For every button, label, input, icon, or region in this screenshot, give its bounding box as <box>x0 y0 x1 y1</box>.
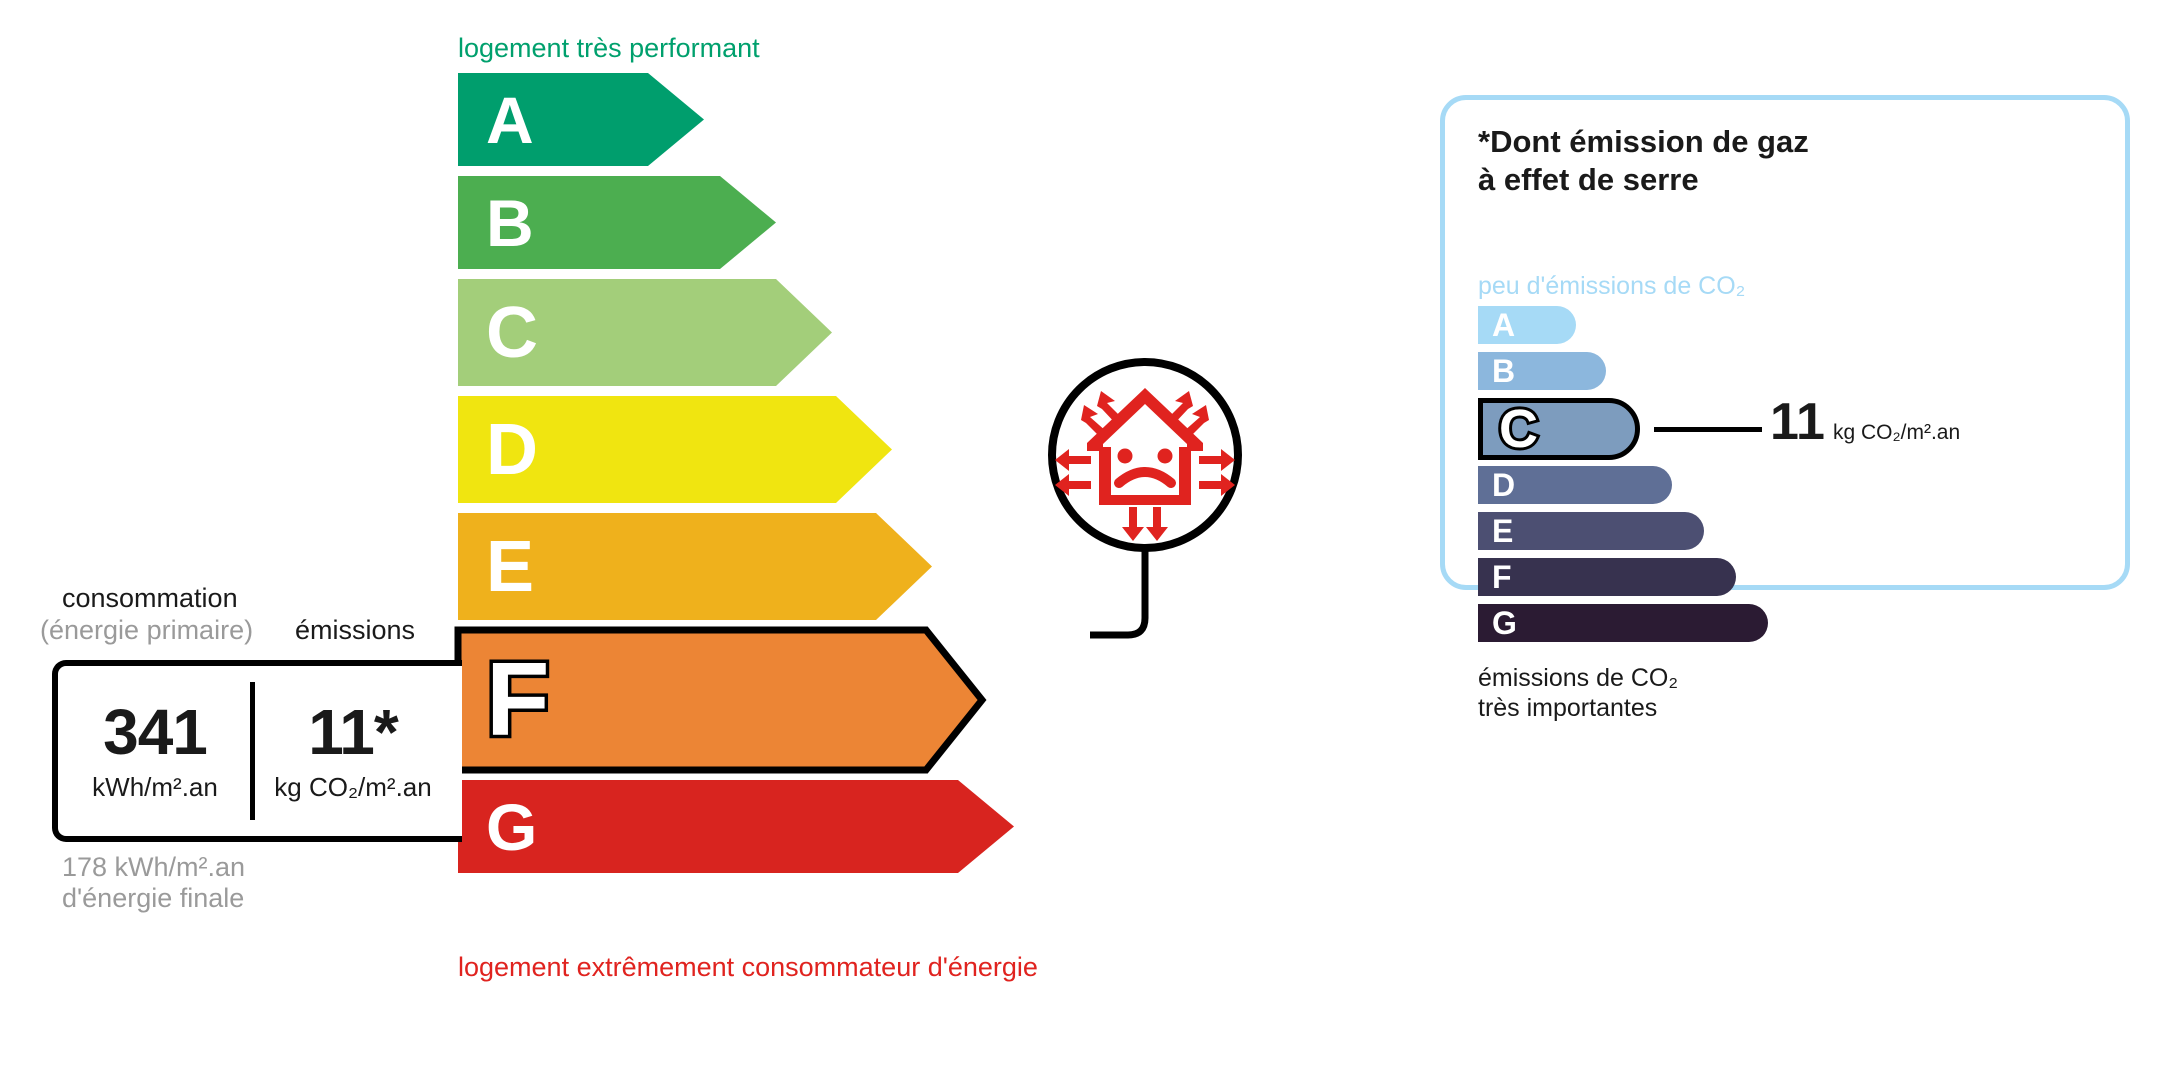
label-energie-primaire: (énergie primaire) <box>40 615 253 646</box>
co2-bar-b: B <box>1478 352 1606 390</box>
energy-band-letter-e: E <box>486 531 534 603</box>
sad-house-heat-loss-icon <box>1045 355 1245 555</box>
co2-bar-chart: ABC11kg CO₂/m².anDEFG <box>1478 306 2098 650</box>
co2-title-line2: à effet de serre <box>1478 161 1809 199</box>
co2-bar-g: G <box>1478 604 1768 642</box>
primary-consumption-value-group: 341 kWh/m².an <box>66 700 244 800</box>
co2-bar-letter-d: D <box>1492 469 1515 501</box>
co2-bar-letter-f: F <box>1492 561 1512 593</box>
energy-band-letter-f: F <box>486 648 550 752</box>
co2-bar-e: E <box>1478 512 1704 550</box>
primary-consumption-value: 341 <box>66 700 244 764</box>
co2-bar-letter-c: C <box>1499 402 1538 456</box>
emission-unit: kg CO₂/m².an <box>262 774 444 800</box>
co2-value: 11 <box>1770 393 1825 451</box>
energy-band-f: F <box>458 630 982 770</box>
co2-bottom-line2: très importantes <box>1478 694 1678 724</box>
value-box-divider <box>250 682 255 820</box>
co2-title-line1: *Dont émission de gaz <box>1478 123 1809 161</box>
energy-band-letter-b: B <box>486 190 534 256</box>
co2-row-f: F <box>1478 558 2098 596</box>
primary-consumption-unit: kWh/m².an <box>66 774 244 800</box>
co2-row-a: A <box>1478 306 2098 344</box>
energy-band-c: C <box>458 279 832 386</box>
co2-row-b: B <box>1478 352 2098 390</box>
co2-bar-a: A <box>1478 306 1576 344</box>
final-energy-line2: d'énergie finale <box>62 883 245 914</box>
co2-bottom-line1: émissions de CO₂ <box>1478 664 1678 694</box>
co2-row-c: C11kg CO₂/m².an <box>1478 398 2098 460</box>
energy-band-a: A <box>458 73 704 166</box>
co2-row-g: G <box>1478 604 2098 642</box>
energy-band-g: G <box>458 780 1014 873</box>
energy-band-letter-d: D <box>486 414 538 486</box>
energy-band-letter-a: A <box>486 87 534 153</box>
co2-value-group: 11kg CO₂/m².an <box>1770 396 1960 448</box>
energy-band-letter-c: C <box>486 297 538 369</box>
co2-bar-letter-e: E <box>1492 515 1513 547</box>
co2-bar-letter-g: G <box>1492 607 1517 639</box>
co2-row-d: D <box>1478 466 2098 504</box>
emission-value: 11* <box>262 700 444 764</box>
co2-top-caption: peu d'émissions de CO₂ <box>1478 272 1745 301</box>
energy-band-b: B <box>458 176 776 269</box>
co2-row-e: E <box>1478 512 2098 550</box>
energy-top-caption: logement très performant <box>458 33 760 64</box>
co2-bar-letter-b: B <box>1492 355 1515 387</box>
co2-panel-title: *Dont émission de gaz à effet de serre <box>1478 123 1809 199</box>
co2-value-unit: kg CO₂/m².an <box>1833 421 1960 444</box>
co2-bar-f: F <box>1478 558 1736 596</box>
co2-bar-d: D <box>1478 466 1672 504</box>
final-energy-note: 178 kWh/m².an d'énergie finale <box>62 852 245 914</box>
co2-bottom-caption: émissions de CO₂ très importantes <box>1478 664 1678 723</box>
emission-value-group: 11* kg CO₂/m².an <box>262 700 444 800</box>
label-emissions: émissions <box>295 615 415 646</box>
co2-bar-letter-a: A <box>1492 309 1515 341</box>
energy-bottom-caption: logement extrêmement consommateur d'éner… <box>458 952 1038 983</box>
energy-band-d: D <box>458 396 892 503</box>
energy-band-e: E <box>458 513 932 620</box>
energy-band-letter-g: G <box>486 794 537 860</box>
co2-bar-c: C <box>1478 398 1640 460</box>
co2-leader-line <box>1654 427 1762 432</box>
label-consommation: consommation <box>62 583 238 614</box>
final-energy-line1: 178 kWh/m².an <box>62 852 245 883</box>
